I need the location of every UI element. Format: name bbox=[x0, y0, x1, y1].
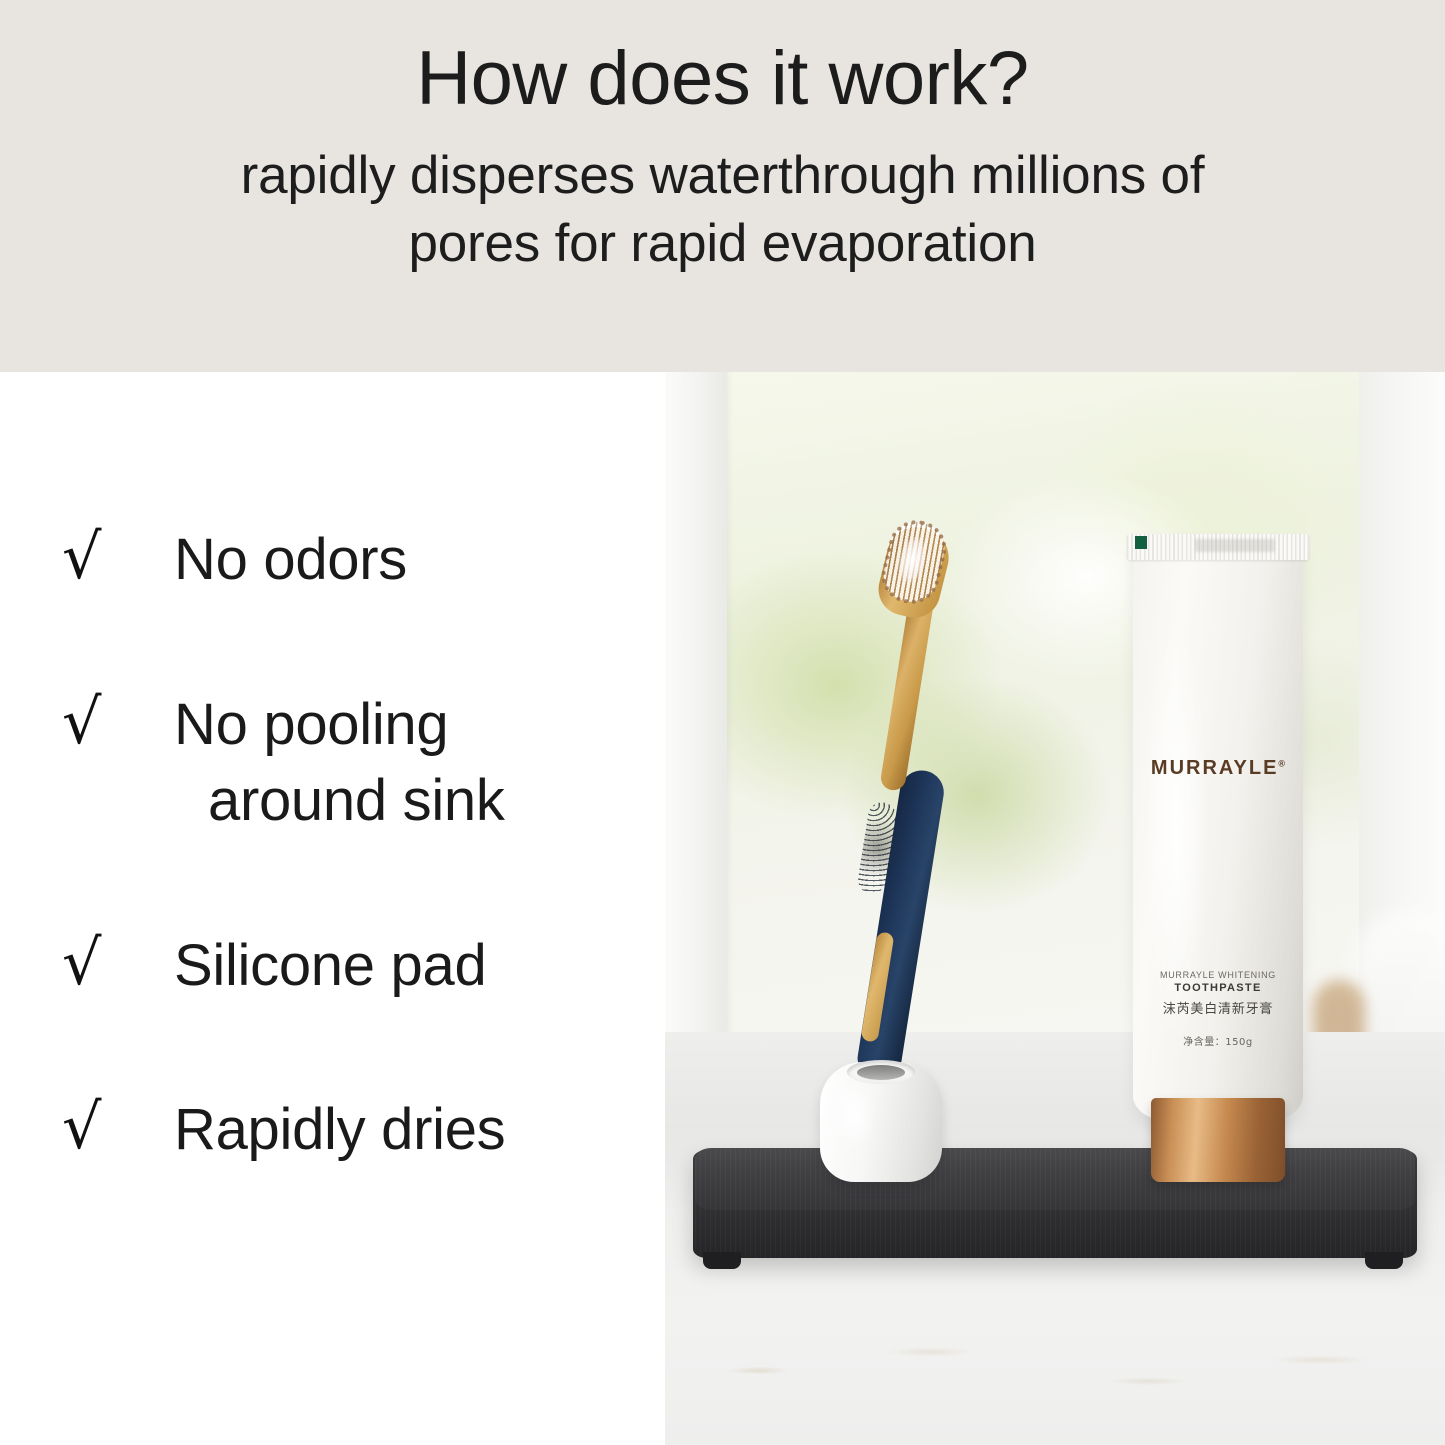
tube-chinese-name-text: 沫芮美白清新牙膏 bbox=[1133, 998, 1303, 1017]
subtitle-line-1: rapidly disperses waterthrough millions … bbox=[120, 142, 1325, 210]
tube-product-type-text: TOOTHPASTE bbox=[1133, 982, 1303, 994]
tray-foot-left bbox=[703, 1252, 741, 1269]
feature-label: No odors bbox=[174, 522, 635, 599]
stone-tray-grain bbox=[695, 1148, 1415, 1258]
product-infographic-page: How does it work? rapidly disperses wate… bbox=[0, 0, 1445, 1445]
product-photo: MURRAYLE® MURRAYLE WHITENING TOOTHPASTE … bbox=[665, 372, 1445, 1445]
list-item: √ No pooling around sink bbox=[62, 687, 635, 840]
tube-subbrand-text: MURRAYLE WHITENING bbox=[1133, 970, 1303, 980]
checkmark-icon: √ bbox=[62, 1092, 174, 1158]
subtitle-line-2: pores for rapid evaporation bbox=[120, 210, 1325, 278]
list-item: √ No odors bbox=[62, 522, 635, 599]
page-title: How does it work? bbox=[0, 38, 1445, 120]
window-frame-left bbox=[665, 372, 727, 1054]
checkmark-icon: √ bbox=[62, 928, 174, 994]
tube-date-code bbox=[1195, 539, 1275, 552]
tube-description-block: MURRAYLE WHITENING TOOTHPASTE 沫芮美白清新牙膏 净… bbox=[1133, 970, 1303, 1048]
tube-eco-mark-icon bbox=[1135, 536, 1147, 549]
tube-net-weight-text: 净含量：150g bbox=[1133, 1033, 1303, 1048]
feature-label: No pooling around sink bbox=[174, 687, 635, 840]
tray-foot-right bbox=[1365, 1252, 1403, 1269]
list-item: √ Rapidly dries bbox=[62, 1092, 635, 1169]
tube-brand-label: MURRAYLE® bbox=[1133, 757, 1303, 780]
window-background bbox=[665, 372, 1445, 1054]
registered-trademark-icon: ® bbox=[1278, 758, 1285, 768]
tube-copper-cap bbox=[1151, 1098, 1285, 1182]
feature-label-line: Silicone pad bbox=[174, 928, 635, 1005]
tube-brand-name: MURRAYLE bbox=[1151, 757, 1279, 779]
feature-label: Silicone pad bbox=[174, 928, 635, 1005]
checkmark-icon: √ bbox=[62, 522, 174, 588]
checkmark-icon: √ bbox=[62, 687, 174, 753]
list-item: √ Silicone pad bbox=[62, 928, 635, 1005]
holder-opening bbox=[857, 1065, 905, 1080]
counter-texture bbox=[665, 1312, 1445, 1445]
feature-label-line: around sink bbox=[174, 763, 635, 840]
feature-label-line: No odors bbox=[174, 522, 635, 599]
feature-label-line: Rapidly dries bbox=[174, 1092, 635, 1169]
feature-list: √ No odors √ No pooling around sink √ Si… bbox=[0, 372, 665, 1445]
feature-label: Rapidly dries bbox=[174, 1092, 635, 1169]
feature-label-line: No pooling bbox=[174, 687, 635, 764]
page-subtitle: rapidly disperses waterthrough millions … bbox=[0, 142, 1445, 278]
body-area: √ No odors √ No pooling around sink √ Si… bbox=[0, 372, 1445, 1445]
header-band: How does it work? rapidly disperses wate… bbox=[0, 0, 1445, 372]
